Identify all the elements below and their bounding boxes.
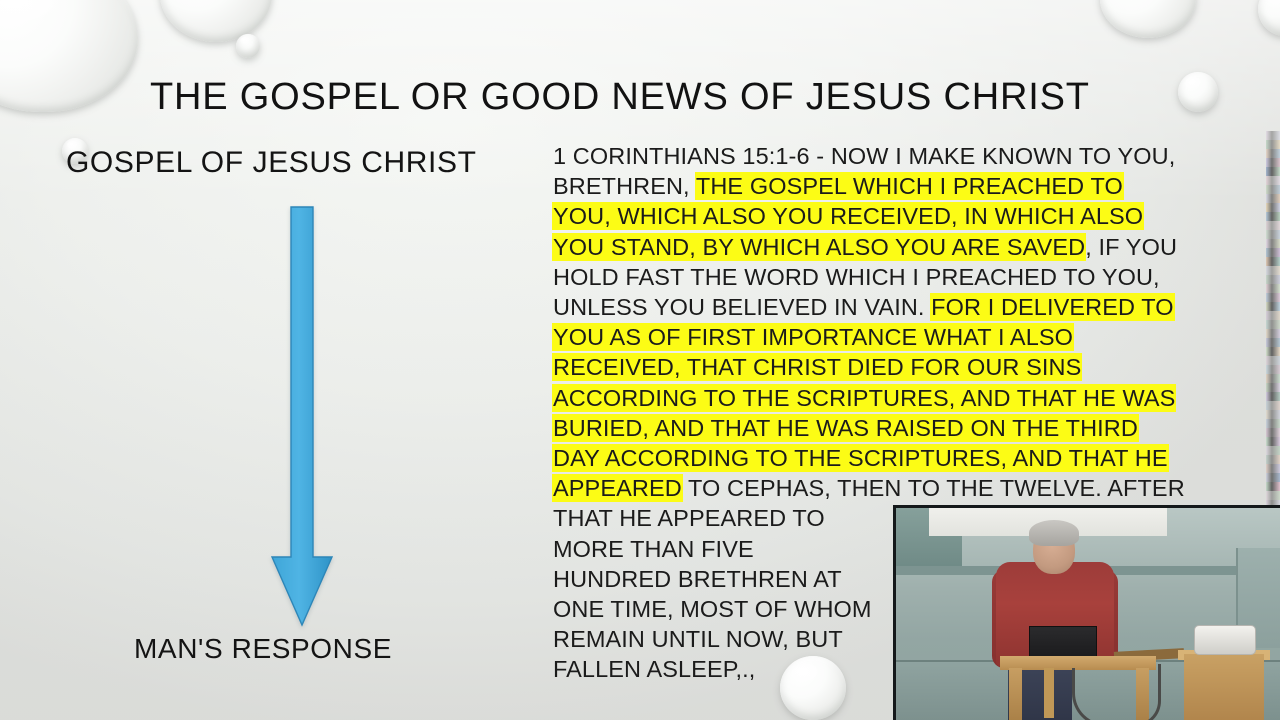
edge-artifact-band xyxy=(1266,194,1280,203)
scripture-highlight: DAY ACCORDING TO THE SCRIPTURES, AND THA… xyxy=(553,445,1168,471)
bubble-decoration-icon xyxy=(236,34,260,58)
edge-artifact-band xyxy=(1266,311,1280,320)
scripture-highlight: THE GOSPEL WHICH I PREACHED TO xyxy=(696,173,1123,199)
video-speaker-hair xyxy=(1029,520,1079,546)
down-arrow-icon xyxy=(268,205,336,629)
scripture-highlight: APPEARED xyxy=(553,475,682,501)
slide-title: THE GOSPEL OR GOOD NEWS OF JESUS CHRIST xyxy=(150,76,1090,119)
video-side-table xyxy=(1184,654,1264,720)
edge-artifact-band xyxy=(1266,167,1280,176)
scripture-plain: ONE TIME, MOST OF WHOM xyxy=(553,596,872,622)
scripture-line: BRETHREN, THE GOSPEL WHICH I PREACHED TO xyxy=(553,171,1243,201)
scripture-line: BURIED, AND THAT HE WAS RAISED ON THE TH… xyxy=(553,413,1243,443)
scripture-plain: HUNDRED BRETHREN AT xyxy=(553,566,842,592)
edge-artifact-band xyxy=(1266,293,1280,302)
edge-artifact-band xyxy=(1266,203,1280,212)
mans-response-label: MAN'S RESPONSE xyxy=(134,633,392,665)
scripture-highlight: YOU STAND, BY WHICH ALSO YOU ARE SAVED xyxy=(553,234,1085,260)
scripture-plain: THAT HE APPEARED TO xyxy=(553,505,825,531)
edge-artifact-band xyxy=(1266,338,1280,347)
scripture-line: YOU STAND, BY WHICH ALSO YOU ARE SAVED, … xyxy=(553,232,1243,262)
edge-artifact-band xyxy=(1266,446,1280,455)
bubble-decoration-icon xyxy=(1178,72,1218,112)
scripture-highlight: YOU, WHICH ALSO YOU RECEIVED, IN WHICH A… xyxy=(553,203,1143,229)
edge-artifact-band xyxy=(1266,185,1280,194)
edge-artifact-strip xyxy=(1266,131,1280,505)
scripture-highlight: RECEIVED, THAT CHRIST DIED FOR OUR SINS xyxy=(553,354,1081,380)
scripture-plain: REMAIN UNTIL NOW, BUT xyxy=(553,626,843,652)
edge-artifact-band xyxy=(1266,473,1280,482)
edge-artifact-band xyxy=(1266,482,1280,491)
edge-artifact-band xyxy=(1266,131,1280,140)
video-cable xyxy=(1124,664,1161,720)
scripture-line: YOU, WHICH ALSO YOU RECEIVED, IN WHICH A… xyxy=(553,201,1243,231)
scripture-highlight: ACCORDING TO THE SCRIPTURES, AND THAT HE… xyxy=(553,385,1175,411)
gospel-heading: GOSPEL OF JESUS CHRIST xyxy=(66,146,477,180)
scripture-line: ACCORDING TO THE SCRIPTURES, AND THAT HE… xyxy=(553,383,1243,413)
scripture-highlight: FOR I DELIVERED TO xyxy=(931,294,1174,320)
edge-artifact-band xyxy=(1266,437,1280,446)
edge-artifact-band xyxy=(1266,419,1280,428)
scripture-line: YOU AS OF FIRST IMPORTANCE WHAT I ALSO xyxy=(553,322,1243,352)
video-podium-support xyxy=(1044,668,1054,718)
edge-artifact-band xyxy=(1266,302,1280,311)
edge-artifact-band xyxy=(1266,140,1280,149)
video-laptop xyxy=(1029,626,1097,660)
scripture-line: UNLESS YOU BELIEVED IN VAIN. FOR I DELIV… xyxy=(553,292,1243,322)
scripture-plain: TO CEPHAS, THEN TO THE TWELVE. AFTER xyxy=(682,475,1185,501)
scripture-plain: , IF YOU xyxy=(1085,234,1177,260)
edge-artifact-band xyxy=(1266,464,1280,473)
scripture-line: 1 CORINTHIANS 15:1-6 - NOW I MAKE KNOWN … xyxy=(553,141,1243,171)
edge-artifact-band xyxy=(1266,221,1280,230)
scripture-plain: HOLD FAST THE WORD WHICH I PREACHED TO Y… xyxy=(553,264,1160,290)
edge-artifact-band xyxy=(1266,374,1280,383)
edge-artifact-band xyxy=(1266,266,1280,275)
scripture-line: HOLD FAST THE WORD WHICH I PREACHED TO Y… xyxy=(553,262,1243,292)
edge-artifact-band xyxy=(1266,149,1280,158)
scripture-plain: MORE THAN FIVE xyxy=(553,536,754,562)
edge-artifact-band xyxy=(1266,230,1280,239)
scripture-highlight: BURIED, AND THAT HE WAS RAISED ON THE TH… xyxy=(553,415,1138,441)
edge-artifact-band xyxy=(1266,347,1280,356)
edge-artifact-band xyxy=(1266,491,1280,500)
edge-artifact-band xyxy=(1266,401,1280,410)
edge-artifact-band xyxy=(1266,212,1280,221)
edge-artifact-band xyxy=(1266,176,1280,185)
scripture-line: DAY ACCORDING TO THE SCRIPTURES, AND THA… xyxy=(553,443,1243,473)
edge-artifact-band xyxy=(1266,428,1280,437)
edge-artifact-band xyxy=(1266,275,1280,284)
bubble-decoration-icon xyxy=(780,656,846,720)
edge-artifact-band xyxy=(1266,248,1280,257)
presentation-screen: THE GOSPEL OR GOOD NEWS OF JESUS CHRIST … xyxy=(0,0,1280,720)
scripture-plain: 1 CORINTHIANS 15:1-6 - NOW I MAKE KNOWN … xyxy=(553,143,1175,169)
edge-artifact-band xyxy=(1266,410,1280,419)
scripture-line: RECEIVED, THAT CHRIST DIED FOR OUR SINS xyxy=(553,352,1243,382)
speaker-video-inset[interactable] xyxy=(893,505,1280,720)
edge-artifact-band xyxy=(1266,257,1280,266)
scripture-plain: UNLESS YOU BELIEVED IN VAIN. xyxy=(553,294,931,320)
edge-artifact-band xyxy=(1266,158,1280,167)
edge-artifact-band xyxy=(1266,356,1280,365)
edge-artifact-band xyxy=(1266,455,1280,464)
scripture-line: APPEARED TO CEPHAS, THEN TO THE TWELVE. … xyxy=(553,473,1243,503)
edge-artifact-band xyxy=(1266,284,1280,293)
edge-artifact-band xyxy=(1266,239,1280,248)
edge-artifact-band xyxy=(1266,320,1280,329)
edge-artifact-band xyxy=(1266,383,1280,392)
scripture-plain: BRETHREN, xyxy=(553,173,696,199)
video-podium-leg xyxy=(1009,668,1022,720)
edge-artifact-band xyxy=(1266,329,1280,338)
scripture-plain: FALLEN ASLEEP,., xyxy=(553,656,755,682)
video-cable xyxy=(1072,668,1131,720)
video-projector xyxy=(1194,625,1256,655)
edge-artifact-band xyxy=(1266,392,1280,401)
scripture-highlight: YOU AS OF FIRST IMPORTANCE WHAT I ALSO xyxy=(553,324,1073,350)
edge-artifact-band xyxy=(1266,365,1280,374)
